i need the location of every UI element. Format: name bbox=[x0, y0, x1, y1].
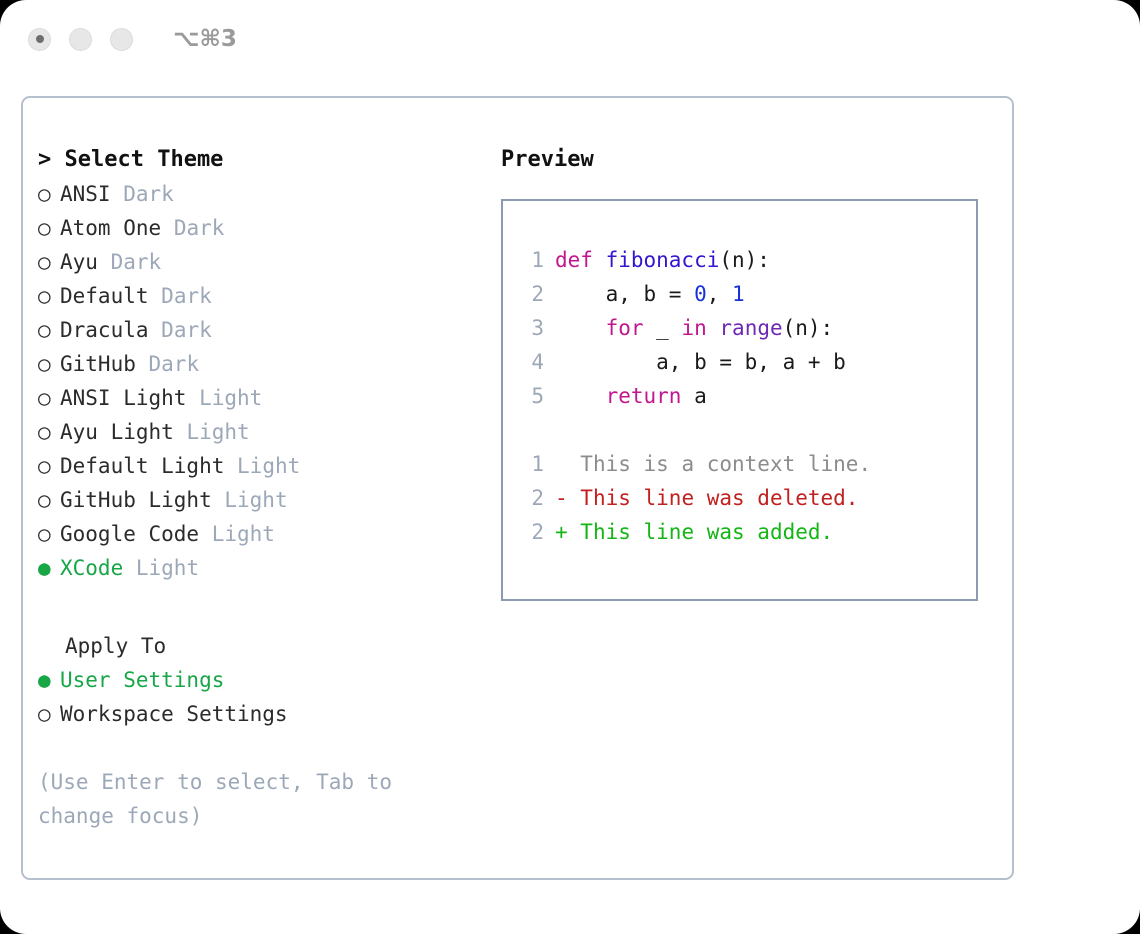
theme-name: Ayu bbox=[60, 250, 98, 274]
theme-category: Dark bbox=[123, 182, 174, 206]
code-blank-line bbox=[518, 413, 871, 447]
code-token-keyword: def bbox=[555, 248, 606, 272]
theme-name: Default Light bbox=[60, 454, 224, 478]
theme-select-column: > Select Theme ○ANSI Dark○Atom One Dark○… bbox=[38, 143, 498, 833]
code-token-number: 1 bbox=[732, 282, 745, 306]
spacer bbox=[149, 284, 162, 308]
theme-name: ANSI bbox=[60, 182, 111, 206]
radio-unselected-icon: ○ bbox=[38, 245, 60, 279]
theme-category: Dark bbox=[174, 216, 225, 240]
line-number: 5 bbox=[518, 379, 544, 413]
theme-name: GitHub bbox=[60, 352, 136, 376]
spacer bbox=[186, 386, 199, 410]
theme-category: Dark bbox=[161, 318, 212, 342]
code-token-call: range bbox=[719, 316, 782, 340]
code-token-keyword: return bbox=[606, 384, 682, 408]
traffic-light-two-icon[interactable] bbox=[69, 28, 92, 51]
theme-category: Light bbox=[212, 522, 275, 546]
app-window: ⌥⌘3 > Select Theme ○ANSI Dark○Atom One D… bbox=[0, 0, 1140, 934]
radio-unselected-icon: ○ bbox=[38, 347, 60, 381]
theme-name: Atom One bbox=[60, 216, 161, 240]
code-token-keyword: for bbox=[606, 316, 644, 340]
code-token-plain: _ bbox=[644, 316, 682, 340]
theme-list-item[interactable]: ○ANSI Light Light bbox=[38, 381, 498, 415]
theme-list-item[interactable]: ○Default Dark bbox=[38, 279, 498, 313]
code-line: 1def fibonacci(n): bbox=[518, 243, 871, 277]
main-panel: > Select Theme ○ANSI Dark○Atom One Dark○… bbox=[21, 96, 1014, 880]
code-token-number: 0 bbox=[694, 282, 707, 306]
window-controls bbox=[28, 28, 133, 51]
preview-box: 1def fibonacci(n):2 a, b = 0, 13 for _ i… bbox=[501, 199, 978, 601]
radio-unselected-icon: ○ bbox=[38, 177, 60, 211]
code-token-plain: a bbox=[681, 384, 706, 408]
spacer bbox=[199, 522, 212, 546]
traffic-light-three-icon[interactable] bbox=[110, 28, 133, 51]
theme-name: Dracula bbox=[60, 318, 149, 342]
radio-unselected-icon: ○ bbox=[38, 211, 60, 245]
theme-list-item[interactable]: ○Atom One Dark bbox=[38, 211, 498, 245]
theme-list-item[interactable]: ○Ayu Light Light bbox=[38, 415, 498, 449]
code-token-keyword: in bbox=[681, 316, 706, 340]
theme-list-item[interactable]: ○ANSI Dark bbox=[38, 177, 498, 211]
radio-unselected-icon: ○ bbox=[38, 483, 60, 517]
spacer bbox=[98, 250, 111, 274]
code-line: 2 a, b = 0, 1 bbox=[518, 277, 871, 311]
radio-unselected-icon: ○ bbox=[38, 517, 60, 551]
theme-name: XCode bbox=[60, 556, 123, 580]
theme-category: Dark bbox=[161, 284, 212, 308]
code-line: 5 return a bbox=[518, 379, 871, 413]
apply-to-name: Workspace Settings bbox=[60, 702, 288, 726]
spacer bbox=[174, 420, 187, 444]
apply-to-list: ●User Settings○Workspace Settings bbox=[38, 663, 498, 731]
spacer bbox=[161, 216, 174, 240]
theme-category: Light bbox=[199, 386, 262, 410]
spacer bbox=[224, 454, 237, 478]
apply-to-item[interactable]: ●User Settings bbox=[38, 663, 498, 697]
code-token-plain bbox=[555, 384, 606, 408]
radio-unselected-icon: ○ bbox=[38, 313, 60, 347]
theme-name: Google Code bbox=[60, 522, 199, 546]
diff-marker bbox=[555, 452, 580, 476]
line-number: 2 bbox=[518, 481, 544, 515]
code-token-plain: (n): bbox=[783, 316, 834, 340]
spacer bbox=[212, 488, 225, 512]
radio-unselected-icon: ○ bbox=[38, 449, 60, 483]
theme-list: ○ANSI Dark○Atom One Dark○Ayu Dark○Defaul… bbox=[38, 177, 498, 585]
code-token-function: fibonacci bbox=[606, 248, 720, 272]
diff-marker: - bbox=[555, 486, 580, 510]
page-title: > Select Theme bbox=[38, 143, 498, 177]
radio-unselected-icon: ○ bbox=[38, 279, 60, 313]
spacer bbox=[136, 352, 149, 376]
preview-title: Preview bbox=[501, 143, 1001, 177]
keyboard-hint: (Use Enter to select, Tab to change focu… bbox=[38, 765, 458, 833]
code-token-plain bbox=[707, 316, 720, 340]
diff-text: This line was deleted. bbox=[580, 486, 858, 510]
line-number: 3 bbox=[518, 311, 544, 345]
line-number: 4 bbox=[518, 345, 544, 379]
theme-list-item[interactable]: ○Ayu Dark bbox=[38, 245, 498, 279]
code-line: 4 a, b = b, a + b bbox=[518, 345, 871, 379]
diff-text: This is a context line. bbox=[580, 452, 871, 476]
theme-name: Default bbox=[60, 284, 149, 308]
theme-name: ANSI Light bbox=[60, 386, 186, 410]
traffic-light-active-icon[interactable] bbox=[28, 28, 51, 51]
keyboard-shortcut-label: ⌥⌘3 bbox=[173, 26, 237, 52]
code-preview: 1def fibonacci(n):2 a, b = 0, 13 for _ i… bbox=[518, 243, 871, 549]
title-bar: ⌥⌘3 bbox=[0, 0, 1140, 78]
theme-category: Light bbox=[224, 488, 287, 512]
radio-unselected-icon: ○ bbox=[38, 381, 60, 415]
apply-to-name: User Settings bbox=[60, 668, 224, 692]
theme-category: Dark bbox=[149, 352, 200, 376]
diff-line-added: 2+ This line was added. bbox=[518, 515, 871, 549]
theme-list-item[interactable]: ○Google Code Light bbox=[38, 517, 498, 551]
apply-to-label: Apply To bbox=[38, 629, 498, 663]
theme-name: GitHub Light bbox=[60, 488, 212, 512]
code-token-plain: (n): bbox=[719, 248, 770, 272]
theme-category: Light bbox=[136, 556, 199, 580]
radio-unselected-icon: ○ bbox=[38, 697, 60, 731]
theme-category: Light bbox=[237, 454, 300, 478]
theme-category: Light bbox=[186, 420, 249, 444]
line-number: 1 bbox=[518, 447, 544, 481]
theme-list-item[interactable]: ○Dracula Dark bbox=[38, 313, 498, 347]
theme-list-item[interactable]: ●XCode Light bbox=[38, 551, 498, 585]
diff-line-deleted: 2- This line was deleted. bbox=[518, 481, 871, 515]
radio-unselected-icon: ○ bbox=[38, 415, 60, 449]
line-number: 2 bbox=[518, 277, 544, 311]
spacer bbox=[123, 556, 136, 580]
theme-list-item[interactable]: ○GitHub Dark bbox=[38, 347, 498, 381]
traffic-light-dot-icon bbox=[36, 35, 44, 43]
theme-list-item[interactable]: ○GitHub Light Light bbox=[38, 483, 498, 517]
code-token-plain: a, b = b, a + b bbox=[555, 350, 846, 374]
radio-selected-icon: ● bbox=[38, 663, 60, 697]
diff-text: This line was added. bbox=[580, 520, 833, 544]
code-token-plain: a, b = bbox=[555, 282, 694, 306]
line-number: 2 bbox=[518, 515, 544, 549]
code-token-plain bbox=[555, 316, 606, 340]
radio-selected-icon: ● bbox=[38, 551, 60, 585]
preview-column: Preview 1def fibonacci(n):2 a, b = 0, 13… bbox=[501, 143, 1001, 601]
theme-list-item[interactable]: ○Default Light Light bbox=[38, 449, 498, 483]
spacer bbox=[149, 318, 162, 342]
spacer bbox=[111, 182, 124, 206]
theme-name: Ayu Light bbox=[60, 420, 174, 444]
apply-to-item[interactable]: ○Workspace Settings bbox=[38, 697, 498, 731]
diff-line-context: 1 This is a context line. bbox=[518, 447, 871, 481]
diff-marker: + bbox=[555, 520, 580, 544]
code-token-plain: , bbox=[707, 282, 732, 306]
theme-category: Dark bbox=[111, 250, 162, 274]
line-number: 1 bbox=[518, 243, 544, 277]
code-line: 3 for _ in range(n): bbox=[518, 311, 871, 345]
